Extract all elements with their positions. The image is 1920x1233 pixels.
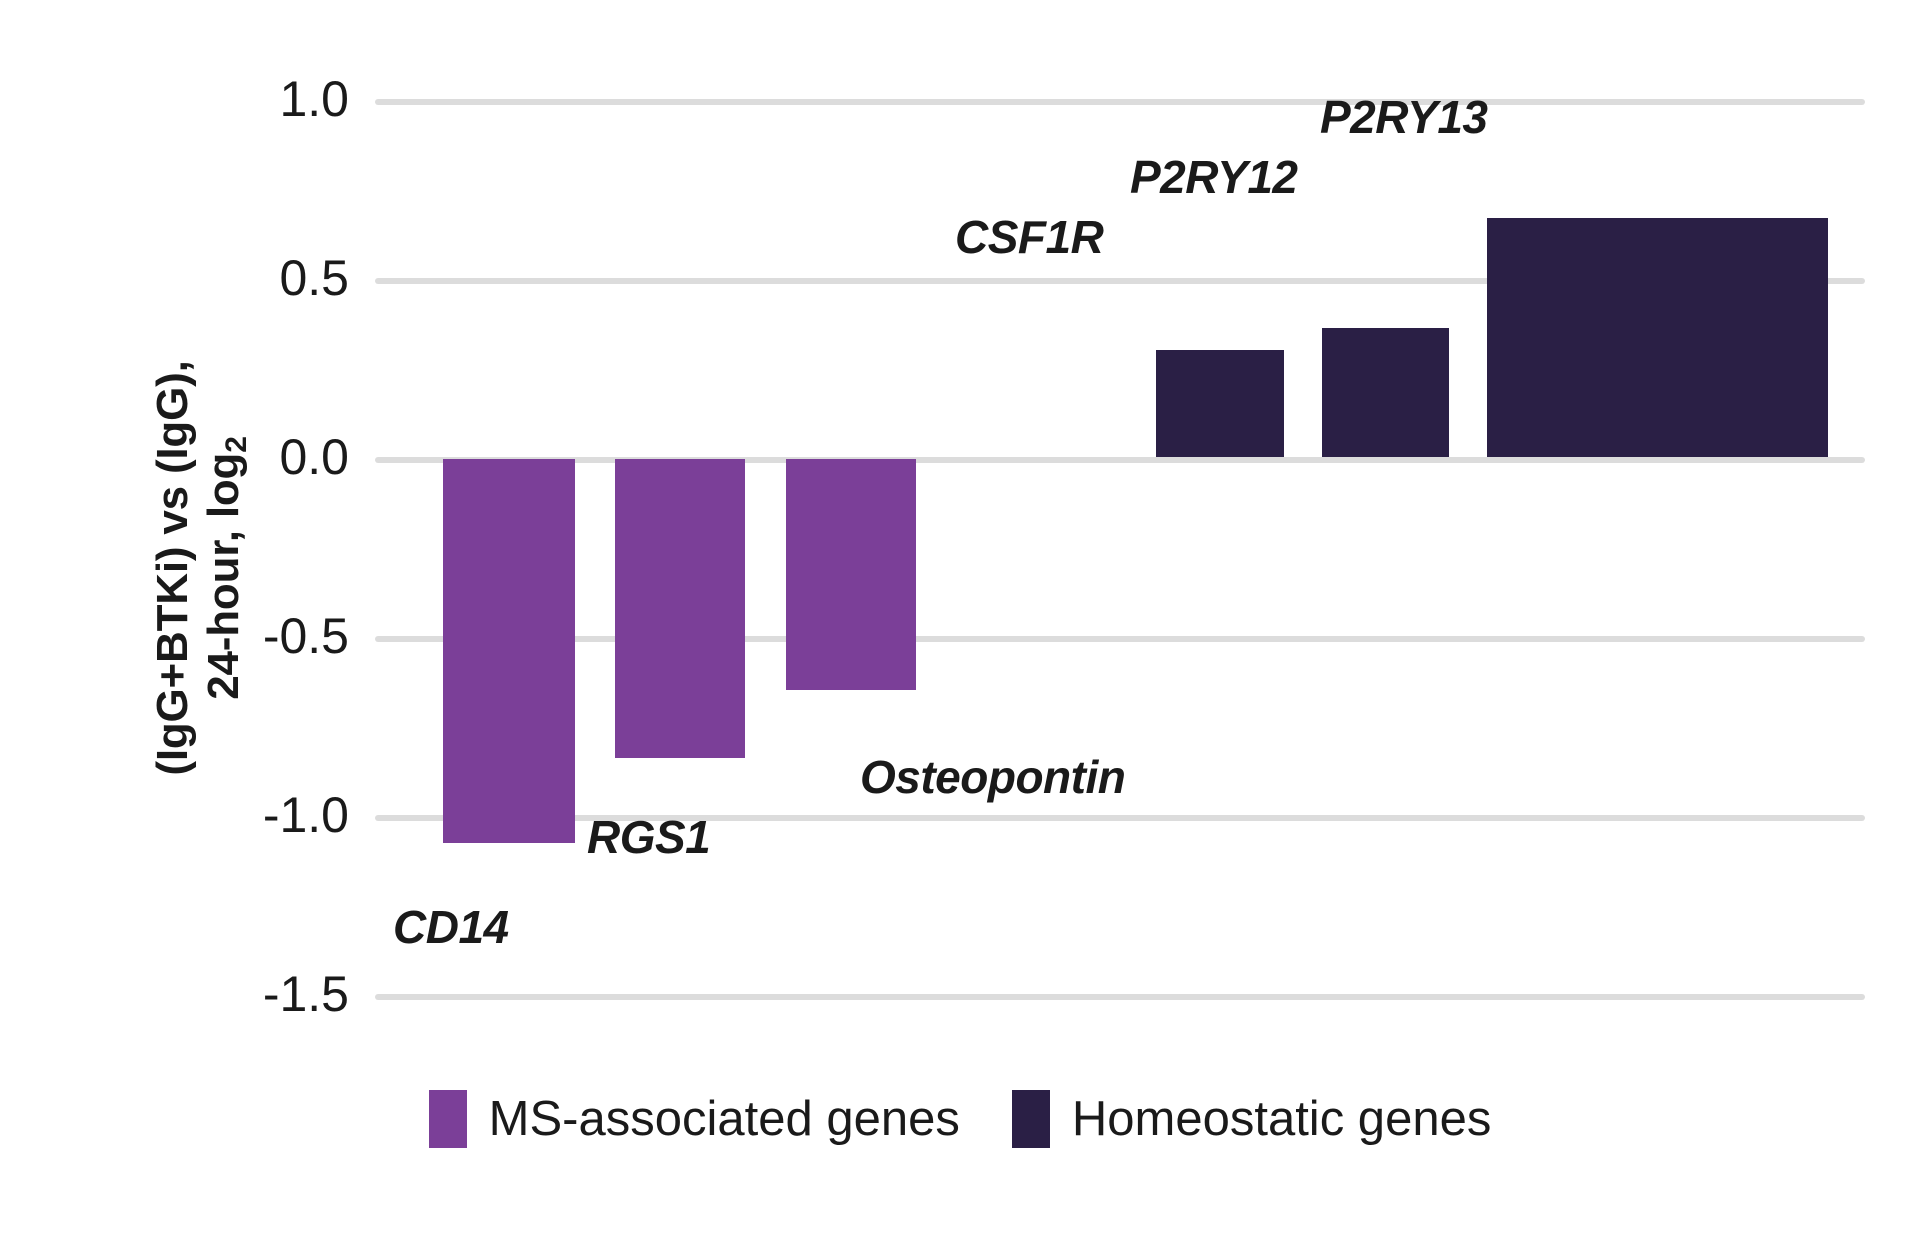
bar-p2ry12[interactable]	[1322, 328, 1449, 457]
bar-label-rgs1: RGS1	[587, 810, 710, 864]
bar-chart-figure: (IgG+BTKi) vs (IgG), 24-hour, log2 1.0 0…	[0, 0, 1920, 1233]
y-tick-label-1.0: 1.0	[279, 74, 349, 124]
y-axis-title-log-base: 2	[220, 436, 253, 453]
gridline--1.5	[375, 994, 1865, 1000]
bar-csf1r[interactable]	[1156, 350, 1284, 457]
legend-label-ms-associated-genes: MS-associated genes	[489, 1091, 960, 1147]
bar-osteopontin[interactable]	[786, 459, 916, 690]
bar-cd14[interactable]	[443, 459, 575, 843]
bar-p2ry13[interactable]	[1487, 218, 1828, 457]
y-axis-title-line-2: 24-hour, log2	[199, 436, 248, 699]
plot-area: 1.0 0.5 0.0 -0.5 -1.0 -1.5 CD14 RGS1 Ost…	[375, 60, 1865, 1010]
bar-label-p2ry12: P2RY12	[1130, 150, 1298, 204]
legend-item-ms-associated-genes[interactable]: MS-associated genes	[429, 1090, 960, 1148]
y-axis-title-line-1: (IgG+BTKi) vs (IgG),	[148, 360, 197, 775]
y-tick-label--0.5: -0.5	[263, 611, 349, 661]
gridline-1.0	[375, 99, 1865, 105]
legend-swatch-homeostatic-genes	[1012, 1090, 1050, 1148]
bar-label-osteopontin: Osteopontin	[860, 750, 1125, 804]
y-tick-label-0.0: 0.0	[279, 432, 349, 482]
bar-label-p2ry13: P2RY13	[1320, 90, 1488, 144]
bar-label-csf1r: CSF1R	[955, 210, 1103, 264]
y-axis-title: (IgG+BTKi) vs (IgG), 24-hour, log2	[138, 188, 258, 948]
legend-label-homeostatic-genes: Homeostatic genes	[1072, 1091, 1491, 1147]
y-tick-label--1.5: -1.5	[263, 969, 349, 1019]
y-axis-title-line-2-main: 24-hour, log	[199, 453, 248, 700]
chart-legend: MS-associated genes Homeostatic genes	[0, 1090, 1920, 1148]
gridline-0.0	[375, 457, 1865, 463]
bar-label-cd14: CD14	[393, 900, 509, 954]
bar-rgs1[interactable]	[615, 459, 745, 758]
gridline--0.5	[375, 636, 1865, 642]
y-tick-label-0.5: 0.5	[279, 253, 349, 303]
legend-item-homeostatic-genes[interactable]: Homeostatic genes	[1012, 1090, 1491, 1148]
y-tick-label--1.0: -1.0	[263, 790, 349, 840]
legend-swatch-ms-associated-genes	[429, 1090, 467, 1148]
